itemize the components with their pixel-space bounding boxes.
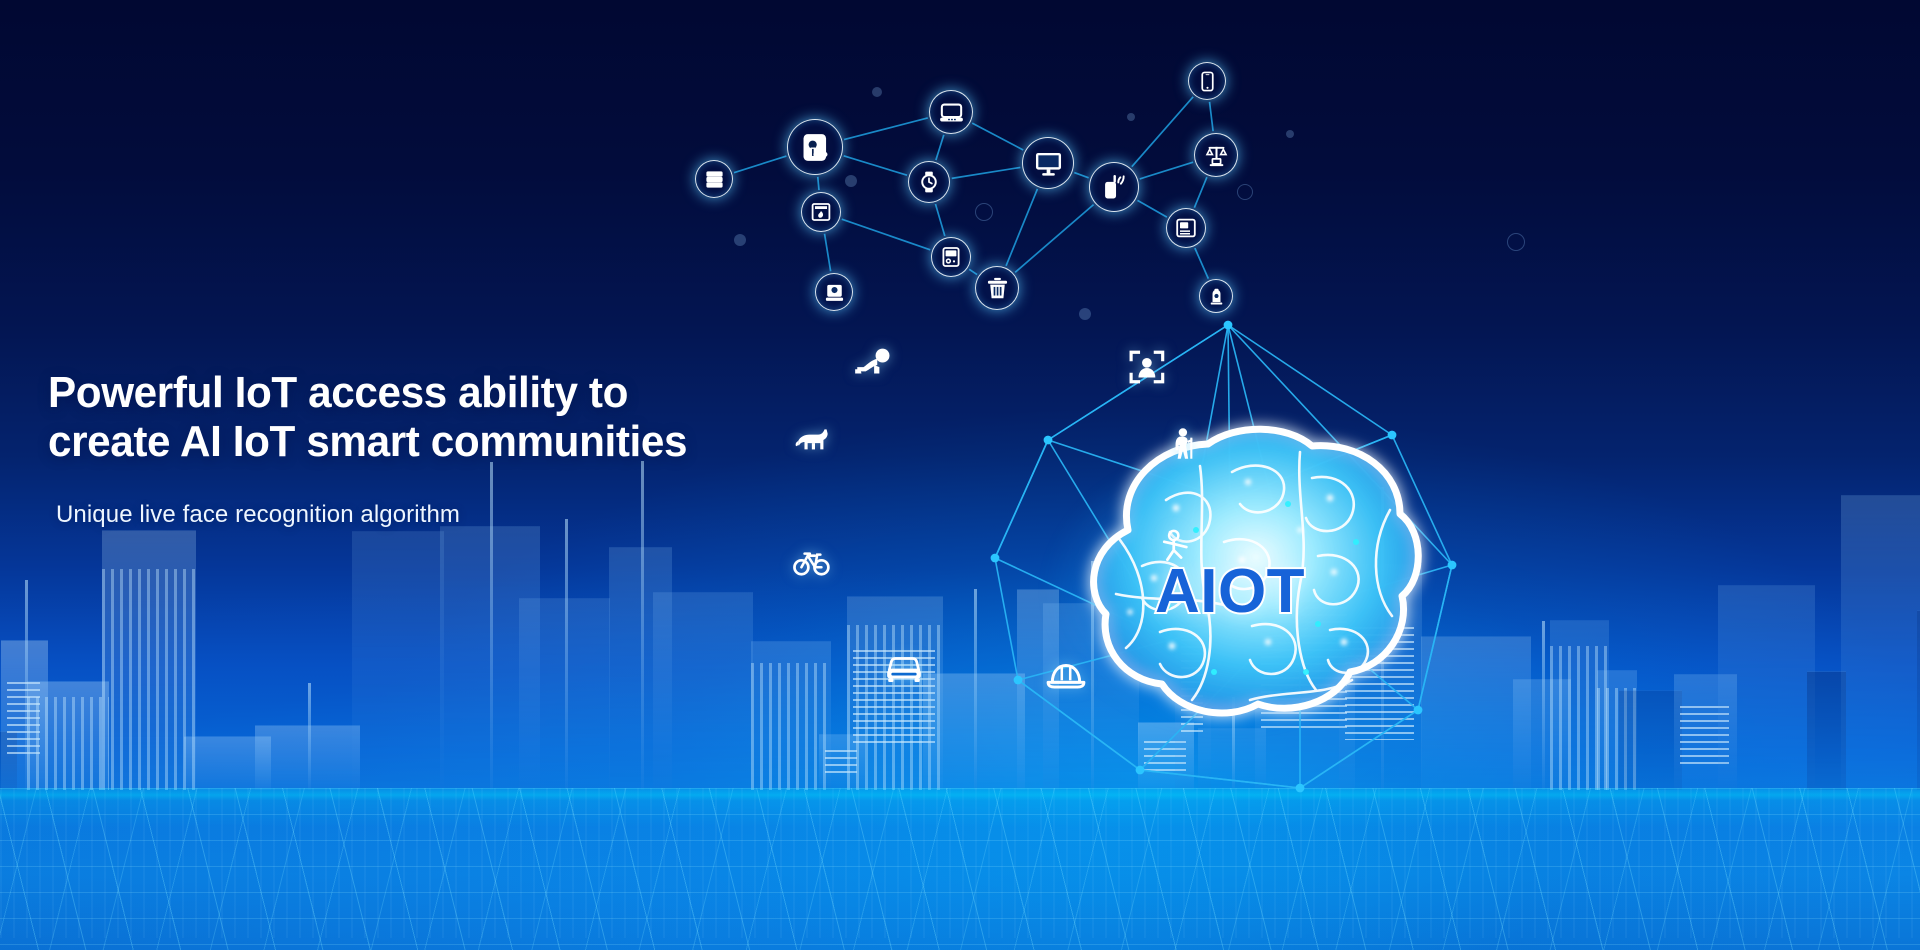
building-spire — [565, 519, 568, 790]
car-icon-glyph — [884, 652, 924, 686]
network-node-walkie-talkie[interactable] — [1089, 162, 1139, 212]
dog-icon-glyph — [795, 424, 835, 458]
decorative-ring — [1237, 184, 1253, 200]
building-vertical-bars — [27, 697, 109, 790]
building — [1619, 690, 1682, 790]
crawling-baby-icon-glyph — [852, 347, 892, 381]
network-node-server-rack[interactable] — [695, 160, 733, 198]
trash-bin-icon — [985, 276, 1010, 301]
network-node-trash-bin[interactable] — [975, 266, 1019, 310]
building — [1718, 585, 1815, 790]
face-recognition-icon[interactable] — [1127, 348, 1171, 386]
network-node-scales[interactable] — [1194, 133, 1238, 177]
crawling-baby-icon[interactable] — [850, 345, 894, 383]
network-node-access-control[interactable] — [787, 119, 843, 175]
smartphone-icon — [1197, 71, 1218, 92]
smartwatch-icon — [917, 170, 941, 194]
building — [653, 592, 753, 790]
decorative-dot — [1286, 130, 1294, 138]
laptop-icon — [939, 100, 964, 125]
network-node-smartwatch[interactable] — [908, 161, 950, 203]
camera-device-icon — [824, 282, 845, 303]
scales-icon — [1204, 143, 1229, 168]
decorative-dot — [845, 175, 857, 187]
server-rack-icon — [704, 169, 725, 190]
bicycle-icon[interactable] — [791, 543, 835, 581]
title-line-2: create AI IoT smart communities — [48, 417, 797, 466]
car-icon[interactable] — [882, 650, 926, 688]
hard-hat-icon[interactable] — [1044, 657, 1088, 695]
aiot-brain-cluster: AIOT — [1000, 380, 1460, 800]
network-node-monitor[interactable] — [1022, 137, 1074, 189]
building — [1841, 495, 1920, 790]
network-node-smartphone[interactable] — [1188, 62, 1226, 100]
network-node-camera-device[interactable] — [815, 273, 853, 311]
network-node-fire-hydrant[interactable] — [1199, 279, 1233, 313]
building-spire — [1542, 621, 1545, 790]
access-control-icon — [800, 132, 831, 163]
decorative-ring — [1507, 233, 1525, 251]
decorative-ring — [975, 203, 993, 221]
aiot-brain-label: AIOT — [1000, 556, 1460, 627]
decorative-dot — [1127, 113, 1135, 121]
bicycle-icon-glyph — [793, 545, 833, 579]
decorative-dot — [1079, 308, 1091, 320]
gas-meter-icon — [940, 246, 962, 268]
face-recognition-icon-glyph — [1129, 350, 1169, 384]
hero-banner: Powerful IoT access ability to create AI… — [0, 0, 1920, 950]
dog-icon[interactable] — [793, 422, 837, 460]
building — [352, 531, 444, 790]
elderly-person-icon-glyph — [1165, 427, 1205, 461]
monitor-icon — [1034, 149, 1063, 178]
decorative-dot — [734, 234, 746, 246]
smoke-detector-icon — [810, 201, 832, 223]
elderly-person-icon[interactable] — [1163, 425, 1207, 463]
hard-hat-icon-glyph — [1046, 659, 1086, 693]
fire-hydrant-icon — [1207, 287, 1226, 306]
walkie-talkie-icon — [1100, 173, 1128, 201]
network-node-kiosk-terminal[interactable] — [1166, 208, 1206, 248]
network-node-gas-meter[interactable] — [931, 237, 971, 277]
building-vertical-bars — [102, 569, 196, 790]
building-spire — [308, 683, 311, 790]
falling-person-icon-glyph — [1159, 529, 1199, 563]
hero-subtitle: Unique live face recognition algorithm — [56, 501, 828, 529]
kiosk-terminal-icon — [1175, 217, 1197, 239]
falling-person-icon[interactable] — [1157, 527, 1201, 565]
decorative-dot — [872, 87, 882, 97]
network-node-smoke-detector[interactable] — [801, 192, 841, 232]
network-node-laptop[interactable] — [929, 90, 973, 134]
